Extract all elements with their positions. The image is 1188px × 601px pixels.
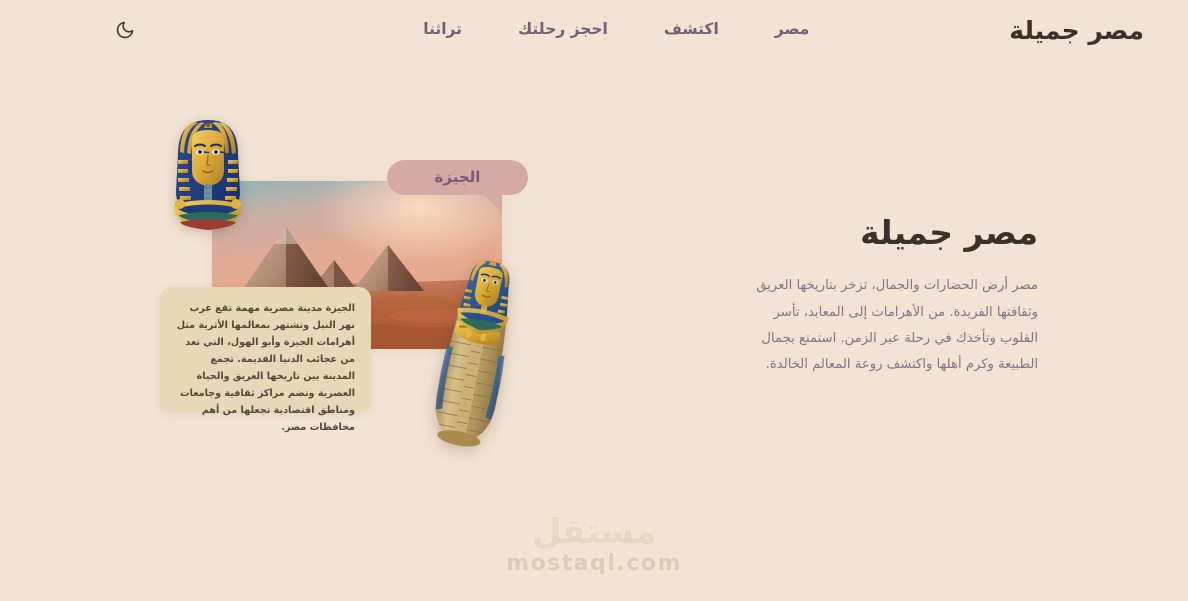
giza-info-card-text: الجيزة مدينة مصرية مهمة تقع غرب نهر الني… [176, 300, 355, 437]
nav-item-book-trip[interactable]: احجز رحلتك [518, 22, 608, 38]
moon-icon [115, 20, 135, 40]
tutankhamun-mask-image [160, 112, 256, 230]
nav-item-discover[interactable]: اكتشف [664, 22, 719, 38]
city-badge-giza[interactable]: الجيزة [387, 160, 528, 195]
nav-item-heritage[interactable]: تراثنا [423, 22, 462, 38]
main-navigation: مصر اكتشف احجز رحلتك تراثنا [423, 22, 809, 38]
watermark-latin: mostaql.com [506, 553, 682, 575]
hero-description: مصر أرض الحضارات والجمال، تزخر بتاريخها … [738, 273, 1038, 379]
tutankhamun-mask-graphic [160, 112, 256, 230]
hero-visual-stage: الجيزة [140, 95, 560, 455]
site-logo[interactable]: مصر جميلة [1009, 16, 1144, 45]
hero-text-block: مصر جميلة مصر أرض الحضارات والجمال، تزخر… [738, 212, 1038, 379]
city-badge-label: الجيزة [435, 170, 481, 185]
page-title: مصر جميلة [738, 212, 1038, 253]
nav-item-masr[interactable]: مصر [775, 22, 810, 38]
site-header: مصر جميلة مصر اكتشف احجز رحلتك تراثنا [0, 0, 1188, 60]
mostaql-watermark: مستقل mostaql.com [0, 515, 1188, 575]
giza-info-card: الجيزة مدينة مصرية مهمة تقع غرب نهر الني… [160, 287, 371, 413]
watermark-arabic: مستقل [532, 515, 656, 549]
theme-toggle-button[interactable] [110, 15, 140, 45]
